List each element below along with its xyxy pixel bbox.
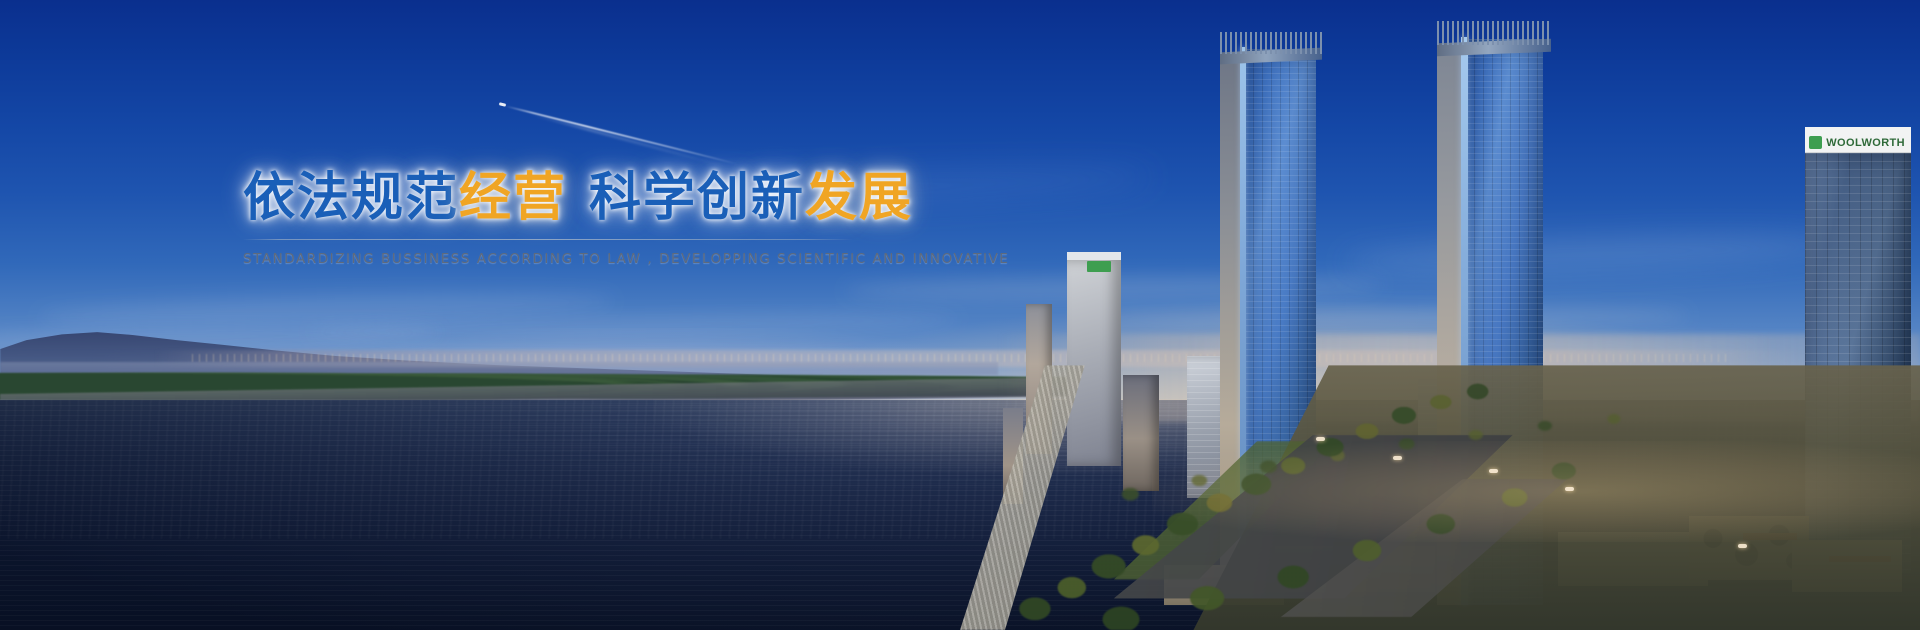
vehicle — [1489, 469, 1498, 473]
roadside-trees — [998, 365, 1612, 630]
headline-part-1: 依法规范 — [243, 168, 459, 228]
headline-part-3: 科学创新 — [589, 168, 805, 228]
vehicle — [1738, 544, 1747, 548]
distant-city-lights — [192, 354, 1728, 362]
banner-text-block: 依法规范经营科学创新发展 STANDARDIZING BUSSINESS ACC… — [243, 172, 883, 267]
headline-part-2-highlight: 经营 — [459, 168, 567, 228]
headline-part-4-highlight: 发展 — [805, 168, 913, 228]
vehicle — [1393, 456, 1402, 460]
banner-subheadline: STANDARDIZING BUSSINESS ACCORDING TO LAW… — [243, 251, 883, 267]
banner-headline: 依法规范经营科学创新发展 — [243, 172, 883, 225]
headline-divider — [243, 239, 853, 240]
vehicle — [1316, 437, 1325, 441]
hero-banner: WOOLWORTH 依法规范经营科学创新发展 STANDARDIZING BUS… — [0, 0, 1920, 630]
